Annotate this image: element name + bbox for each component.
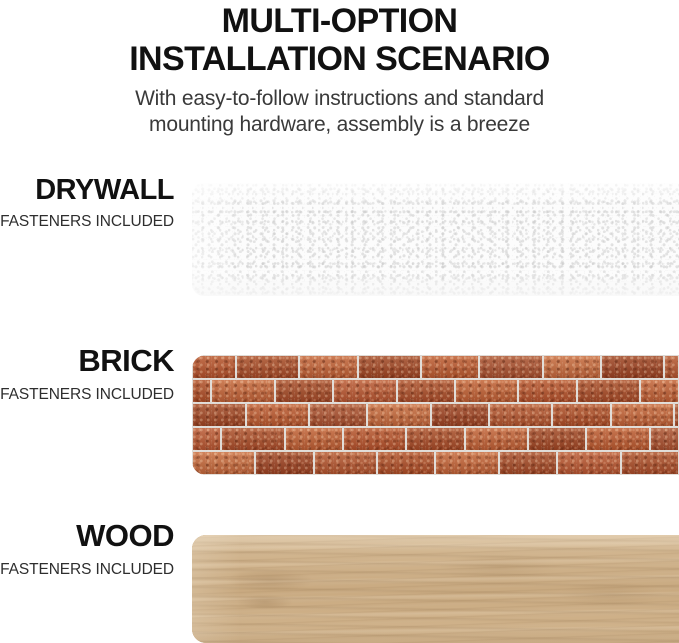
brick-row: [192, 355, 679, 379]
brick-unit: [674, 403, 679, 427]
brick-unit: [343, 427, 406, 451]
brick-unit: [211, 379, 274, 403]
brick-unit: [586, 427, 649, 451]
brick-unit: [192, 403, 246, 427]
page-title-line-1: MULTI-OPTION: [0, 2, 679, 40]
brick-unit: [552, 403, 610, 427]
drywall-labels: DRYWALL FASTENERS INCLUDED: [0, 175, 178, 230]
drywall-texture: [192, 183, 679, 296]
header: MULTI-OPTION INSTALLATION SCENARIO With …: [0, 0, 679, 139]
fasteners-note-brick: FASTENERS INCLUDED: [0, 386, 174, 403]
brick-row: [192, 379, 679, 403]
page-subtitle: With easy-to-follow instructions and sta…: [0, 86, 679, 139]
brick-unit: [192, 427, 221, 451]
brick-unit: [275, 379, 333, 403]
brick-unit: [499, 451, 557, 475]
brick-unit: [557, 451, 620, 475]
brick-unit: [285, 427, 343, 451]
drywall-surface-panel: [192, 183, 679, 296]
brick-unit: [358, 355, 421, 379]
page-title: MULTI-OPTION INSTALLATION SCENARIO: [0, 0, 679, 78]
brick-unit: [299, 355, 357, 379]
brick-unit: [577, 379, 640, 403]
brick-unit: [435, 451, 498, 475]
brick-unit: [455, 379, 518, 403]
brick-unit: [377, 451, 435, 475]
wood-texture: [192, 535, 679, 643]
section-wood: WOOD FASTENERS INCLUDED: [0, 520, 679, 643]
brick-unit: [489, 403, 552, 427]
brick-unit: [528, 427, 586, 451]
brick-unit: [309, 403, 367, 427]
brick-unit: [333, 379, 396, 403]
section-brick: BRICK FASTENERS INCLUDED: [0, 345, 679, 479]
brick-unit: [421, 355, 479, 379]
brick-unit: [397, 379, 455, 403]
brick-row: [192, 427, 679, 451]
brick-unit: [640, 379, 679, 403]
brick-unit: [406, 427, 464, 451]
brick-unit: [255, 451, 313, 475]
brick-unit: [246, 403, 309, 427]
brick-unit: [518, 379, 576, 403]
wood-labels: WOOD FASTENERS INCLUDED: [0, 520, 178, 578]
brick-row: [192, 451, 679, 475]
brick-unit: [543, 355, 601, 379]
brick-unit: [236, 355, 299, 379]
material-name-drywall: DRYWALL: [0, 175, 174, 205]
brick-row: [192, 403, 679, 427]
brick-unit: [664, 355, 679, 379]
page-title-line-2: INSTALLATION SCENARIO: [0, 40, 679, 78]
material-name-brick: BRICK: [0, 345, 174, 378]
wood-surface-panel: [192, 535, 679, 643]
brick-unit: [621, 451, 679, 475]
brick-unit: [221, 427, 284, 451]
brick-texture: [192, 355, 679, 475]
brick-unit: [314, 451, 377, 475]
brick-unit: [465, 427, 528, 451]
material-name-wood: WOOD: [0, 520, 174, 553]
page-subtitle-line-2: mounting hardware, assembly is a breeze: [0, 112, 679, 138]
brick-surface-panel: [192, 355, 679, 475]
brick-unit: [192, 379, 211, 403]
brick-unit: [601, 355, 664, 379]
brick-labels: BRICK FASTENERS INCLUDED: [0, 345, 178, 403]
section-drywall: DRYWALL FASTENERS INCLUDED: [0, 175, 679, 307]
brick-unit: [611, 403, 674, 427]
fasteners-note-wood: FASTENERS INCLUDED: [0, 561, 174, 578]
brick-unit: [431, 403, 489, 427]
brick-unit: [192, 451, 255, 475]
brick-unit: [650, 427, 679, 451]
brick-unit: [479, 355, 542, 379]
page-subtitle-line-1: With easy-to-follow instructions and sta…: [0, 86, 679, 112]
fasteners-note-drywall: FASTENERS INCLUDED: [0, 213, 174, 230]
brick-unit: [192, 355, 236, 379]
brick-unit: [367, 403, 430, 427]
